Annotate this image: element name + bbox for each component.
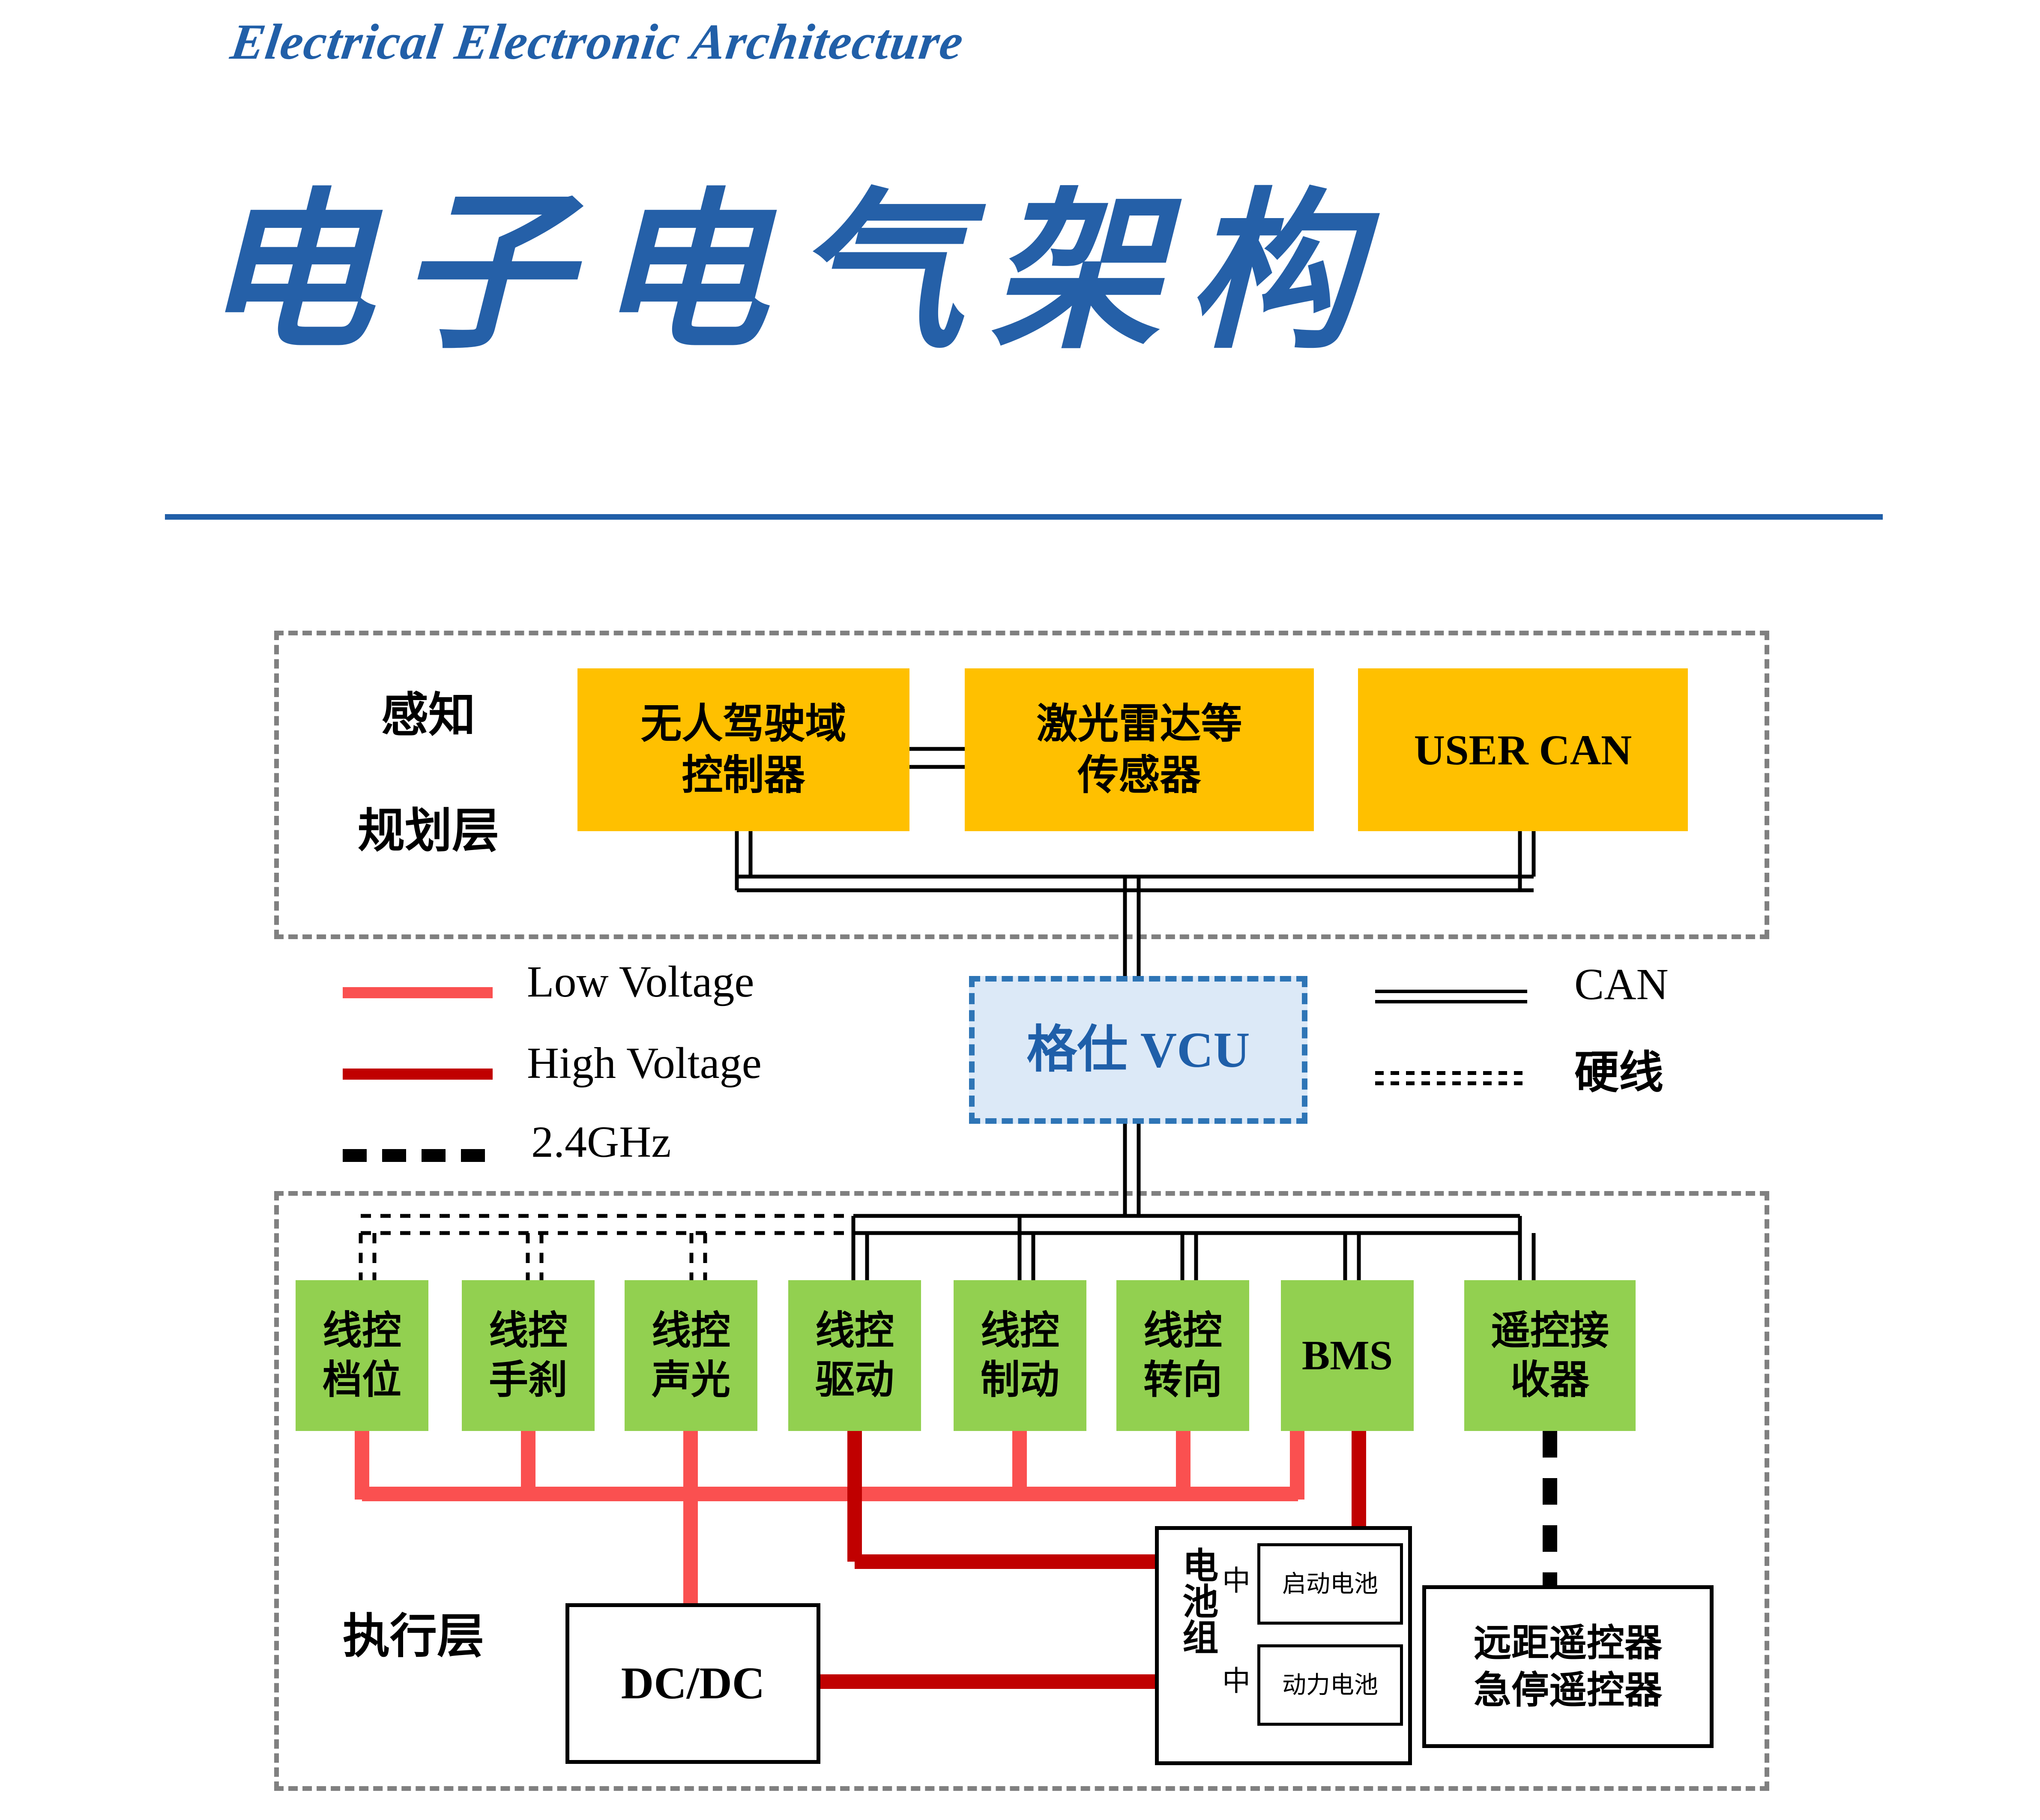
node-drive-by-wire-gear[interactable]: 线控 档位 [296, 1280, 428, 1431]
header-divider [165, 514, 1883, 520]
legend-label-low-voltage: Low Voltage [527, 956, 754, 1007]
node-label: 远距遥控器 急停遥控器 [1474, 1619, 1662, 1714]
node-starter-battery[interactable]: 启动电池 [1257, 1543, 1403, 1625]
node-drive-by-wire-sound-light[interactable]: 线控 声光 [625, 1280, 757, 1431]
legend-swatch-low-voltage [343, 987, 493, 998]
legend-swatch-can [1375, 990, 1527, 993]
battery-pack-label: 电池组 [1174, 1547, 1221, 1666]
legend-swatch-hardwire [1375, 1071, 1527, 1075]
legend-swatch-high-voltage [343, 1069, 493, 1080]
legend-swatch-can-2 [1375, 1000, 1527, 1003]
node-drive-by-wire-brake[interactable]: 线控 制动 [954, 1280, 1086, 1431]
node-label: 线控 档位 [323, 1306, 401, 1405]
node-bms[interactable]: BMS [1281, 1280, 1414, 1431]
node-label: 线控 驱动 [815, 1306, 894, 1405]
node-label: 动力电池 [1282, 1670, 1378, 1700]
perception-label-line1: 感知 [343, 681, 514, 750]
battery-bracket-icon-1: 中 [1222, 1558, 1250, 1599]
battery-pack-label-text: 电池组 [1174, 1547, 1221, 1655]
chinese-title: 电子电气架构 [201, 189, 1384, 360]
node-label: 线控 手刹 [489, 1306, 568, 1405]
node-drive-by-wire-steering[interactable]: 线控 转向 [1116, 1280, 1249, 1431]
diagram-canvas: Electrical Electronic Architecture 电子电气架… [0, 0, 2040, 1820]
node-label: 线控 转向 [1143, 1306, 1222, 1405]
node-dcdc[interactable]: DC/DC [565, 1603, 820, 1764]
node-label: 无人驾驶域 控制器 [641, 698, 847, 801]
node-traction-battery[interactable]: 动力电池 [1257, 1644, 1403, 1726]
legend-label-high-voltage: High Voltage [527, 1038, 762, 1089]
node-label: USER CAN [1414, 723, 1632, 777]
legend-label-hardwire: 硬线 [1574, 1036, 1663, 1101]
node-lidar-sensors[interactable]: 激光雷达等 传感器 [965, 668, 1314, 831]
node-label: 启动电池 [1282, 1569, 1378, 1599]
node-label: BMS [1302, 1329, 1393, 1382]
english-title: Electrical Electronic Architecture [227, 13, 967, 71]
node-label: 遥控接 收器 [1491, 1306, 1609, 1405]
legend-label-can: CAN [1574, 959, 1669, 1010]
execution-layer-label: 执行层 [343, 1602, 484, 1671]
node-vcu[interactable]: 格仕 VCU [969, 976, 1307, 1124]
legend-label-24ghz: 2.4GHz [531, 1117, 671, 1167]
legend-swatch-hardwire-2 [1375, 1081, 1527, 1085]
node-remote-receiver[interactable]: 遥控接 收器 [1464, 1280, 1636, 1431]
perception-layer-label: 感知 规划层 [343, 681, 514, 865]
node-label: 激光雷达等 传感器 [1037, 698, 1242, 801]
node-remote-controllers[interactable]: 远距遥控器 急停遥控器 [1422, 1585, 1714, 1748]
node-label: 线控 制动 [981, 1306, 1059, 1405]
node-user-can[interactable]: USER CAN [1358, 668, 1688, 831]
perception-label-line2: 规划层 [343, 797, 514, 865]
node-drive-by-wire-handbrake[interactable]: 线控 手刹 [462, 1280, 595, 1431]
node-autonomous-domain-controller[interactable]: 无人驾驶域 控制器 [577, 668, 909, 831]
node-label: 格仕 VCU [1026, 1018, 1250, 1082]
node-label: 线控 声光 [652, 1306, 730, 1405]
legend-swatch-24ghz [343, 1149, 493, 1162]
battery-bracket-icon-2: 中 [1222, 1658, 1250, 1699]
node-drive-by-wire-drive[interactable]: 线控 驱动 [788, 1280, 921, 1431]
node-label: DC/DC [621, 1655, 765, 1712]
